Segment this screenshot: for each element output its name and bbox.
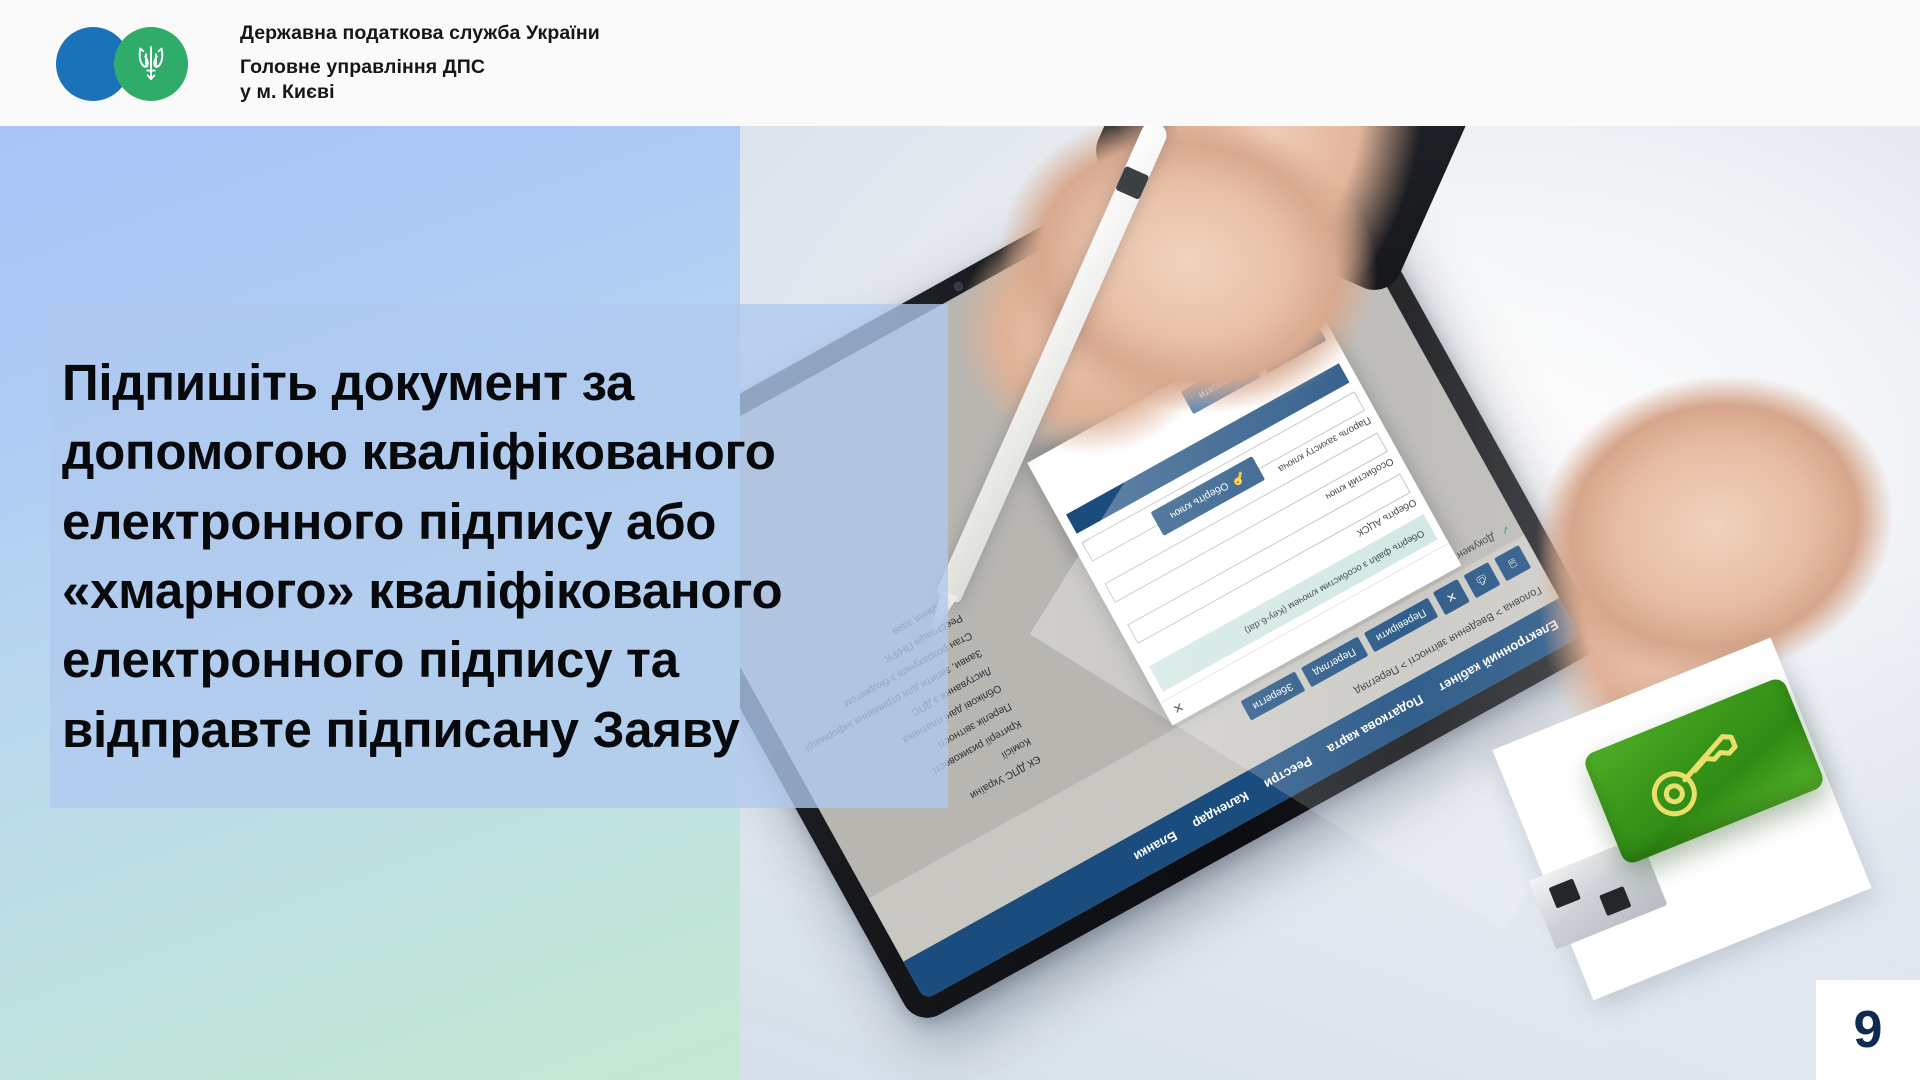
key-icon [1629, 712, 1779, 830]
slide-body: Електронний кабінет Податкова карта Реєс… [0, 126, 1920, 1080]
page-number-badge: 9 [1816, 980, 1920, 1080]
tablet-nav-forms: Бланки [1132, 829, 1181, 865]
tablet-tool-print-icon: ⎙ [1463, 562, 1500, 598]
logo-circle-green-icon [114, 27, 188, 101]
organization-title: Державна податкова служба України Головн… [240, 21, 600, 104]
org-name-line2: Головне управління ДПС [240, 55, 600, 80]
ukrainian-trident-icon [134, 42, 168, 86]
page-header: Державна податкова служба України Головн… [0, 0, 1920, 126]
tablet-nav-registers: Реєстри [1262, 754, 1315, 792]
organization-logo [56, 24, 216, 102]
usb-contact-b [1599, 886, 1631, 916]
tablet-tool-delete-icon: ✕ [1433, 579, 1470, 615]
slide-root: Державна податкова служба України Головн… [0, 0, 1920, 1080]
org-name-line3: у м. Києві [240, 80, 600, 105]
headline-text: Підпишіть документ за допомогою кваліфік… [62, 348, 908, 764]
headline-panel: Підпишіть документ за допомогою кваліфік… [50, 304, 948, 808]
page-number: 9 [1854, 1004, 1883, 1056]
usb-key-illustration [1532, 684, 1832, 954]
org-name-line1: Державна податкова служба України [240, 21, 600, 46]
usb-contact-a [1549, 878, 1581, 908]
